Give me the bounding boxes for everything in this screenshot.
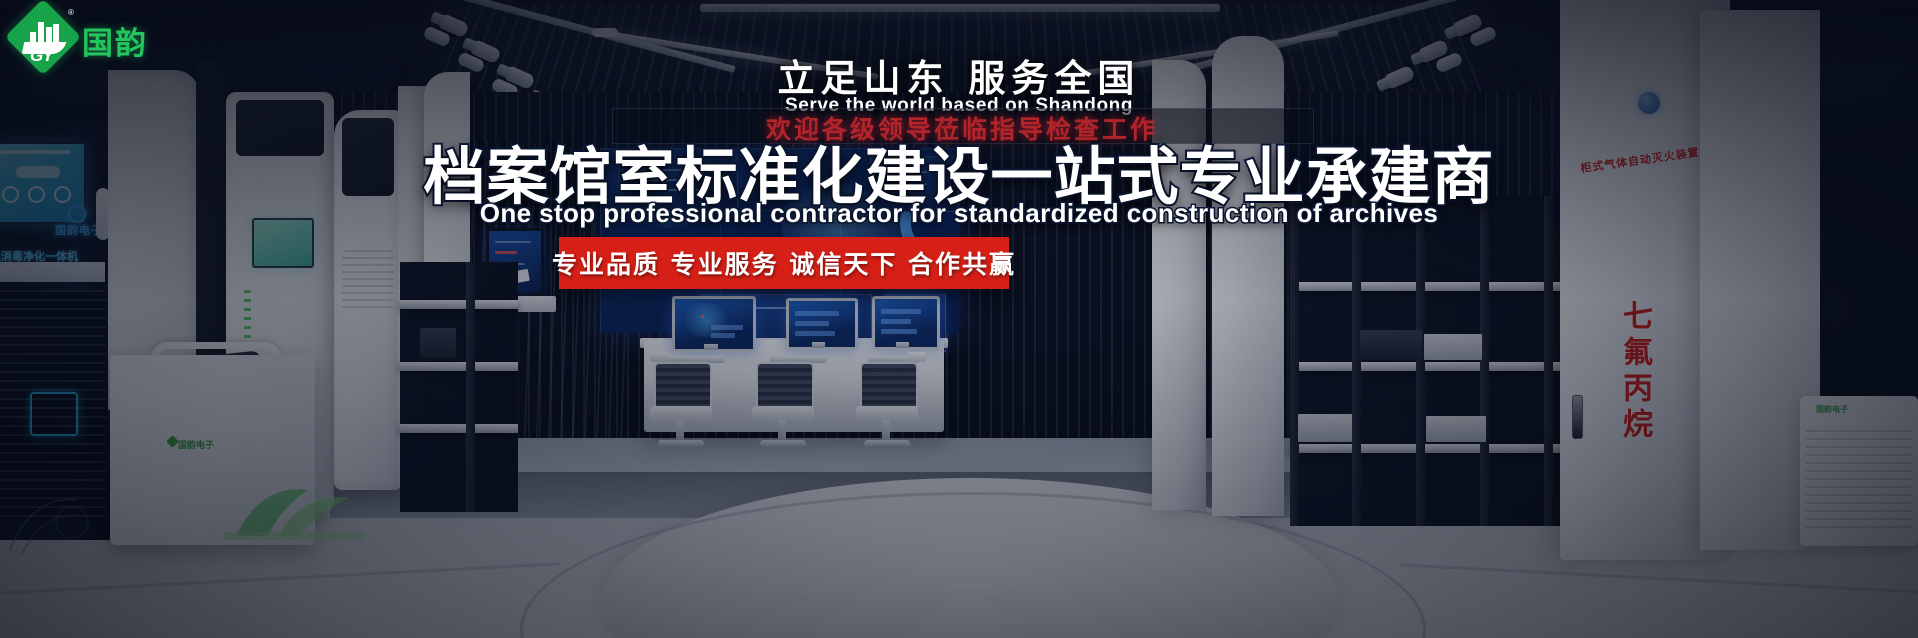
registered-trademark-icon: ®	[68, 8, 74, 17]
slogan-banner[interactable]: 专业品质 专业服务 诚信天下 合作共赢	[559, 237, 1009, 289]
hero-subheadline: One stop professional contractor for sta…	[0, 198, 1918, 229]
hero-banner: 国韵电子 湿消毒净化一体机	[0, 0, 1918, 638]
tagline-chinese: 立足山东 服务全国	[0, 48, 1918, 102]
logo-buildings-icon	[30, 22, 58, 44]
slogan-banner-text: 专业品质 专业服务 诚信天下 合作共赢	[552, 245, 1016, 281]
hero-overlay: GY ® 国韵 立足山东 服务全国 Serve the world based …	[0, 0, 1918, 638]
